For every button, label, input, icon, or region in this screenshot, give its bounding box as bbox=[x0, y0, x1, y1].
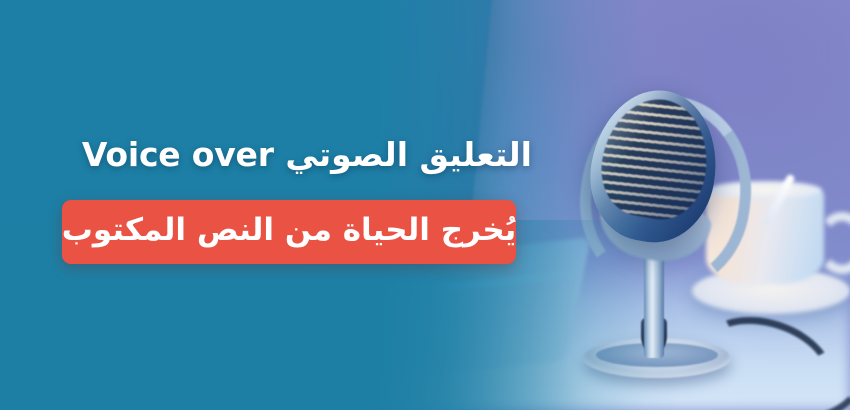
callout-text: يُخرج الحياة من النص المكتوب bbox=[62, 215, 517, 249]
banner-content: التعليق الصوتي Voice over يُخرج الحياة م… bbox=[0, 0, 850, 410]
headline-arabic: التعليق الصوتي bbox=[285, 135, 532, 174]
callout-banner: يُخرج الحياة من النص المكتوب bbox=[62, 200, 516, 264]
voice-over-banner: التعليق الصوتي Voice over يُخرج الحياة م… bbox=[0, 0, 850, 410]
banner-headline: التعليق الصوتي Voice over bbox=[62, 136, 532, 174]
headline-english: Voice over bbox=[82, 135, 274, 174]
